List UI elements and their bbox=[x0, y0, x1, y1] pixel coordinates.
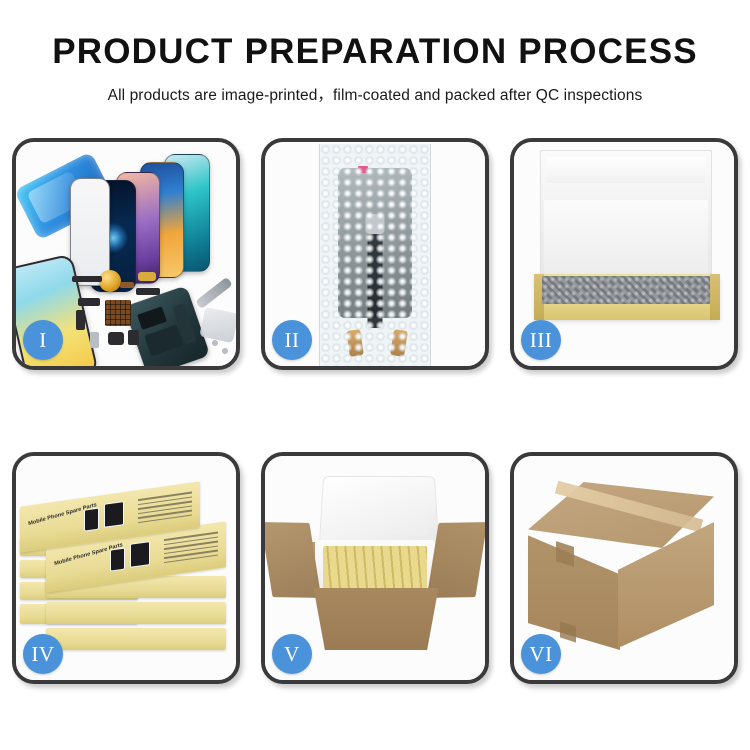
sim-tray-part bbox=[90, 332, 99, 348]
bubble-texture bbox=[320, 144, 430, 366]
antenna-flex-part bbox=[76, 310, 85, 330]
box-screen-thumb bbox=[104, 501, 124, 528]
step-badge-1: I bbox=[23, 320, 63, 360]
repair-hand-tool bbox=[199, 307, 236, 343]
chip-module-part bbox=[105, 300, 131, 326]
step-badge-5: V bbox=[272, 634, 312, 674]
box-screen-thumb bbox=[130, 541, 150, 568]
foam-sheet bbox=[544, 200, 708, 276]
page-title: PRODUCT PREPARATION PROCESS bbox=[0, 34, 750, 71]
bubble-wrap-bag bbox=[319, 144, 431, 366]
stacked-box bbox=[46, 628, 226, 650]
box-screen-thumb bbox=[84, 508, 99, 532]
step-panel-3: III bbox=[510, 138, 738, 370]
steps-grid: I II bbox=[12, 138, 738, 684]
phone-back-housing-part bbox=[124, 285, 210, 366]
step-panel-6: VI bbox=[510, 452, 738, 684]
step-panel-1: I bbox=[12, 138, 240, 370]
phone-display-white bbox=[70, 178, 110, 286]
carton-front-wall bbox=[305, 588, 447, 650]
page-subtitle: All products are image-printed，film-coat… bbox=[0, 83, 750, 105]
step-panel-4: Mobile Phone Spare Parts Mobile Phone Sp… bbox=[12, 452, 240, 684]
stacked-box bbox=[46, 602, 226, 624]
step-badge-2: II bbox=[272, 320, 312, 360]
step-panel-5: V bbox=[261, 452, 489, 684]
vibrator-motor-part bbox=[108, 332, 124, 345]
flex-cable-part bbox=[136, 288, 160, 295]
speaker-coil-part bbox=[99, 270, 121, 292]
step-badge-6: VI bbox=[521, 634, 561, 674]
screw-part bbox=[212, 340, 218, 346]
box-flap-right bbox=[710, 274, 720, 320]
box-spec-lines bbox=[138, 491, 192, 526]
bubble-wrapped-contents bbox=[542, 276, 710, 304]
box-stack: Mobile Phone Spare Parts Mobile Phone Sp… bbox=[18, 480, 236, 660]
connector-part bbox=[78, 298, 100, 306]
step-badge-4: IV bbox=[23, 634, 63, 674]
header: PRODUCT PREPARATION PROCESS All products… bbox=[0, 0, 750, 105]
box-screen-thumb bbox=[110, 548, 125, 572]
step-panel-2: II bbox=[261, 138, 489, 370]
box-spec-lines bbox=[164, 531, 218, 566]
yellow-boxes-inside bbox=[323, 546, 427, 590]
phone-display-fan bbox=[74, 150, 234, 290]
camera-module-part bbox=[128, 330, 139, 345]
product-preparation-infographic: PRODUCT PREPARATION PROCESS All products… bbox=[0, 0, 750, 750]
flex-cable-gold-part bbox=[138, 272, 156, 281]
screw-part bbox=[222, 348, 228, 354]
carton-flap-left bbox=[265, 522, 321, 598]
copper-contact-part bbox=[120, 282, 134, 288]
earpiece-speaker-part bbox=[72, 276, 102, 282]
step-badge-3: III bbox=[521, 320, 561, 360]
foam-box-lid bbox=[319, 476, 440, 547]
